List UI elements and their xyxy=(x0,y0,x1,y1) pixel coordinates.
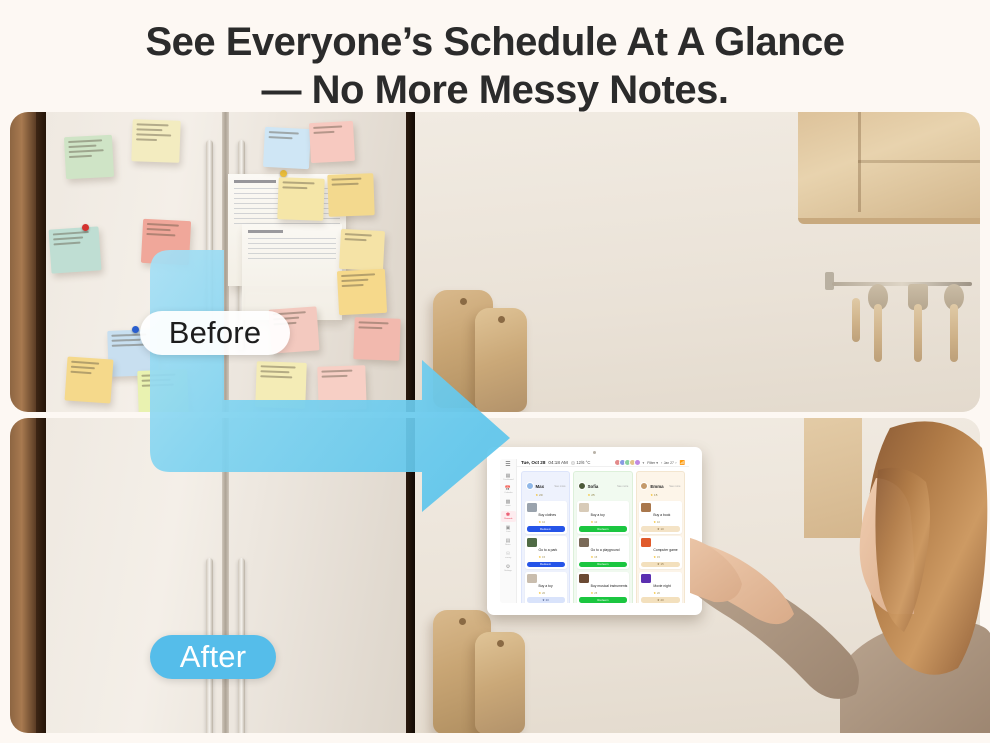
before-label-badge: Before xyxy=(140,311,290,355)
pushpin-yellow xyxy=(280,170,287,177)
avatar[interactable] xyxy=(578,482,586,490)
member-column-emma: Emma ★ 15 See more xyxy=(636,471,685,603)
star-icon: ★ xyxy=(539,592,542,596)
strainer-handle xyxy=(950,304,958,362)
sidebar-label: Calendar xyxy=(504,492,512,495)
points-value: 10 xyxy=(657,521,660,525)
task-card[interactable]: Buy musical instruments ★ 25 Redeem xyxy=(577,572,630,603)
weather-temp: 12/6 °C xyxy=(576,460,590,465)
points-value: 25 xyxy=(594,592,597,596)
points-value: 25 xyxy=(591,493,594,497)
sidebar-label: Settings xyxy=(504,570,512,573)
member-name: Sofia xyxy=(588,484,599,489)
whisk-handle xyxy=(852,298,860,342)
fridge-door-seam-after xyxy=(222,418,229,733)
points-value: 20 xyxy=(539,493,542,497)
avatar[interactable] xyxy=(634,459,641,466)
sticky-note xyxy=(49,226,102,273)
sidebar-item-notes[interactable]: ▤ Notes xyxy=(501,537,516,548)
kitchen-room-right xyxy=(415,112,980,412)
member-header[interactable]: Emma ★ 15 See more xyxy=(639,475,681,498)
sticky-note xyxy=(337,269,387,315)
next-arrow-icon[interactable]: › xyxy=(675,461,676,465)
task-points: ★ 20 xyxy=(653,592,679,596)
locked-cost-button[interactable]: ★ 20 xyxy=(527,597,565,603)
note-rule xyxy=(248,248,336,249)
task-points: ★ 15 xyxy=(591,556,628,560)
sidebar-label: Rewards xyxy=(504,518,512,521)
hamburger-icon[interactable]: ☰ xyxy=(505,462,510,468)
task-points: ★ 20 xyxy=(539,592,565,596)
sidebar-item-rewards[interactable]: ✽ Rewards xyxy=(501,511,516,522)
sticky-note xyxy=(317,365,367,411)
task-title: Buy a book xyxy=(653,513,670,517)
cutting-board-small-after xyxy=(475,632,525,733)
task-thumbnail xyxy=(579,574,589,583)
see-more-link[interactable]: See more xyxy=(617,485,628,488)
locked-cost-button[interactable]: ★ 10 xyxy=(641,526,679,532)
avatar-group[interactable]: ▾ xyxy=(614,459,644,466)
woman-photo xyxy=(690,418,990,743)
note-title-line xyxy=(248,230,283,233)
task-thumbnail xyxy=(641,574,651,583)
star-icon: ★ xyxy=(539,521,542,525)
sticky-note xyxy=(65,356,114,403)
sticky-note xyxy=(64,135,114,179)
cabinet-seam-horizontal xyxy=(858,160,980,163)
door-jamb xyxy=(10,112,36,412)
sticky-note xyxy=(277,177,324,221)
sticky-note xyxy=(131,119,180,163)
task-thumbnail xyxy=(641,503,651,512)
nav-date-label: Jan 27 xyxy=(664,461,674,465)
spatula-handle xyxy=(914,304,922,362)
tablet-main: Tue, Oct 28 04:18 AM 12/6 °C ▾ xyxy=(517,459,689,603)
task-thumbnail xyxy=(579,503,589,512)
date-navigator[interactable]: ‹ Jan 27 › xyxy=(661,461,676,465)
sidebar-label: Family xyxy=(505,557,511,560)
points-value: 10 xyxy=(594,521,597,525)
sidebar-label: Notes xyxy=(505,544,510,547)
task-points: ★ 15 xyxy=(653,556,679,560)
task-card[interactable]: Buy a book ★ 10 ★ 10 xyxy=(639,501,681,534)
sidebar-item-lists[interactable]: ▣ Lists xyxy=(501,524,516,535)
sidebar-item-settings[interactable]: ⚙ Settings xyxy=(501,563,516,574)
task-points: ★ 10 xyxy=(653,521,679,525)
refrigerator-door-after xyxy=(46,418,406,733)
door-jamb-shadow-after xyxy=(36,418,46,733)
locked-cost-button[interactable]: ★ 20 xyxy=(641,597,679,603)
task-title: Buy a toy xyxy=(539,584,553,588)
tablet-topbar: Tue, Oct 28 04:18 AM 12/6 °C ▾ xyxy=(517,459,689,467)
task-title: Computer game xyxy=(653,548,677,552)
redeem-button[interactable]: Redeem xyxy=(579,597,628,603)
door-jamb-after xyxy=(10,418,36,733)
member-columns: Max ★ 20 See more xyxy=(517,467,689,603)
redeem-button[interactable]: Redeem xyxy=(579,526,628,532)
task-points: ★ 15 xyxy=(539,556,565,560)
member-header[interactable]: Sofia ★ 25 See more xyxy=(577,475,630,498)
task-card[interactable]: Computer game ★ 15 ★ 15 xyxy=(639,536,681,569)
gear-icon: ⚙ xyxy=(506,565,510,570)
wifi-icon[interactable]: 📶 xyxy=(680,460,685,466)
sidebar-label: Dashboard xyxy=(503,479,513,482)
points-value: 20 xyxy=(542,592,545,596)
sticky-note xyxy=(137,369,189,412)
sidebar-item-family[interactable]: ☉ Family xyxy=(501,550,516,561)
sidebar-item-calendar[interactable]: 📅 Calendar xyxy=(501,485,516,496)
redeem-button[interactable]: Redeem xyxy=(527,562,565,568)
redeem-button[interactable]: Redeem xyxy=(527,526,565,532)
avatar[interactable] xyxy=(526,482,534,490)
task-points: ★ 25 xyxy=(591,592,628,596)
before-label-text: Before xyxy=(169,315,262,351)
task-title: Buy a toy xyxy=(591,513,605,517)
sticky-note xyxy=(141,219,191,265)
task-card[interactable]: Go to a playground ★ 15 Redeem xyxy=(577,536,630,569)
chart-icon: ▩ xyxy=(506,500,511,505)
see-more-link[interactable]: See more xyxy=(669,485,680,488)
sticky-note xyxy=(255,361,307,409)
tablet-screen[interactable]: ☰ ▦ Dashboard 📅 Calendar ▩ Goals ✽ Rewar… xyxy=(500,459,689,603)
pushpin-blue xyxy=(132,326,139,333)
note-rule xyxy=(248,253,336,254)
member-column-sofia: Sofia ★ 25 See more xyxy=(573,471,633,603)
family-dashboard-tablet[interactable]: ☰ ▦ Dashboard 📅 Calendar ▩ Goals ✽ Rewar… xyxy=(487,447,702,615)
star-icon: ★ xyxy=(591,521,594,525)
before-kitchen-scene xyxy=(10,112,980,412)
task-title: Buy musical instruments xyxy=(591,584,628,588)
chevron-down-icon[interactable]: ▾ xyxy=(642,461,644,465)
sidebar-label: Lists xyxy=(506,531,510,534)
task-card[interactable]: Buy a toy ★ 20 ★ 20 xyxy=(525,572,567,603)
utensil-rail-mount xyxy=(825,272,834,290)
member-name: Emma xyxy=(650,484,663,489)
filter-dropdown[interactable]: Filter ▾ xyxy=(647,461,658,465)
current-time: 04:18 AM xyxy=(548,460,567,465)
star-icon: ★ xyxy=(650,493,653,497)
task-card[interactable]: Movie night ★ 20 ★ 20 xyxy=(639,572,681,603)
current-date: Tue, Oct 28 xyxy=(521,460,545,465)
see-more-link[interactable]: See more xyxy=(554,485,565,488)
headline-line-1: See Everyone’s Schedule At A Glance xyxy=(0,22,990,62)
star-icon: ★ xyxy=(539,556,542,560)
paper-note-secondary xyxy=(242,224,342,320)
people-icon: ☉ xyxy=(506,552,510,557)
list-icon: ▣ xyxy=(506,526,511,531)
filter-label: Filter xyxy=(647,461,655,465)
dashboard-icon: ▦ xyxy=(506,474,511,479)
star-icon: ★ xyxy=(591,556,594,560)
task-title: Go to a park xyxy=(539,548,558,552)
member-points: ★ 15 xyxy=(650,493,663,497)
task-thumbnail xyxy=(641,538,651,547)
tablet-sidebar[interactable]: ☰ ▦ Dashboard 📅 Calendar ▩ Goals ✽ Rewar… xyxy=(500,459,517,603)
after-label-badge: After xyxy=(150,635,276,679)
prev-arrow-icon[interactable]: ‹ xyxy=(661,461,662,465)
sticky-note xyxy=(327,173,374,217)
star-icon: ★ xyxy=(653,592,656,596)
ladle-handle xyxy=(874,304,882,362)
points-value: 15 xyxy=(657,556,660,560)
fridge-edge-shadow xyxy=(406,112,415,412)
points-value: 15 xyxy=(542,556,545,560)
task-thumbnail xyxy=(579,538,589,547)
member-name: Max xyxy=(536,484,545,489)
member-points: ★ 25 xyxy=(588,493,599,497)
points-value: 10 xyxy=(542,521,545,525)
sticky-note xyxy=(263,127,311,169)
before-photo-panel xyxy=(10,112,980,412)
weather-widget: 12/6 °C xyxy=(571,460,591,465)
task-thumbnail xyxy=(527,503,537,512)
star-icon: ★ xyxy=(588,493,591,497)
cutting-board-hole-after xyxy=(459,618,466,625)
sticky-note xyxy=(309,121,355,163)
task-card[interactable]: Buy clothes ★ 10 Redeem xyxy=(525,501,567,534)
sidebar-item-dashboard[interactable]: ▦ Dashboard xyxy=(501,472,516,483)
cutting-board-small xyxy=(475,308,527,412)
task-points: ★ 10 xyxy=(539,521,565,525)
door-jamb-shadow xyxy=(36,112,46,412)
sidebar-label: Goals xyxy=(505,505,510,508)
task-thumbnail xyxy=(527,538,537,547)
member-column-max: Max ★ 20 See more xyxy=(521,471,570,603)
wall-cabinet xyxy=(798,112,980,224)
task-points: ★ 10 xyxy=(591,521,628,525)
pushpin-red xyxy=(82,224,89,231)
sun-icon xyxy=(571,461,575,465)
promo-page: See Everyone’s Schedule At A Glance — No… xyxy=(0,0,990,743)
cutting-board-hole-2 xyxy=(498,316,505,323)
task-card[interactable]: Buy a toy ★ 10 Redeem xyxy=(577,501,630,534)
star-icon: ★ xyxy=(591,592,594,596)
headline-line-2: — No More Messy Notes. xyxy=(0,70,990,110)
task-thumbnail xyxy=(527,574,537,583)
redeem-button[interactable]: Redeem xyxy=(579,562,628,568)
task-title: Go to a playground xyxy=(591,548,620,552)
notes-icon: ▤ xyxy=(506,539,511,544)
page-title: See Everyone’s Schedule At A Glance — No… xyxy=(0,22,990,110)
points-value: 15 xyxy=(594,556,597,560)
cutting-board-hole-2-after xyxy=(497,640,504,647)
points-value: 20 xyxy=(657,592,660,596)
camera-icon xyxy=(593,451,596,454)
checklist-title-line xyxy=(234,180,276,183)
locked-cost-button[interactable]: ★ 15 xyxy=(641,562,679,568)
note-rule xyxy=(248,238,336,239)
task-title: Buy clothes xyxy=(539,513,557,517)
cutting-board-hole xyxy=(460,298,467,305)
calendar-icon: 📅 xyxy=(505,487,511,492)
star-icon: ★ xyxy=(653,556,656,560)
sidebar-item-goals[interactable]: ▩ Goals xyxy=(501,498,516,509)
sticky-note xyxy=(339,229,385,271)
star-icon: ✽ xyxy=(506,513,510,518)
after-label-text: After xyxy=(180,639,246,675)
note-rule xyxy=(248,243,336,244)
chevron-down-icon: ▾ xyxy=(656,461,658,465)
task-card[interactable]: Go to a park ★ 15 Redeem xyxy=(525,536,567,569)
points-value: 15 xyxy=(654,493,657,497)
note-rule xyxy=(248,258,336,259)
star-icon: ★ xyxy=(536,493,539,497)
sticky-note xyxy=(353,317,400,361)
member-header[interactable]: Max ★ 20 See more xyxy=(525,475,567,498)
fridge-edge-shadow-after xyxy=(406,418,415,733)
avatar[interactable] xyxy=(640,482,648,490)
star-icon: ★ xyxy=(653,521,656,525)
member-points: ★ 20 xyxy=(536,493,545,497)
task-title: Movie night xyxy=(653,584,670,588)
